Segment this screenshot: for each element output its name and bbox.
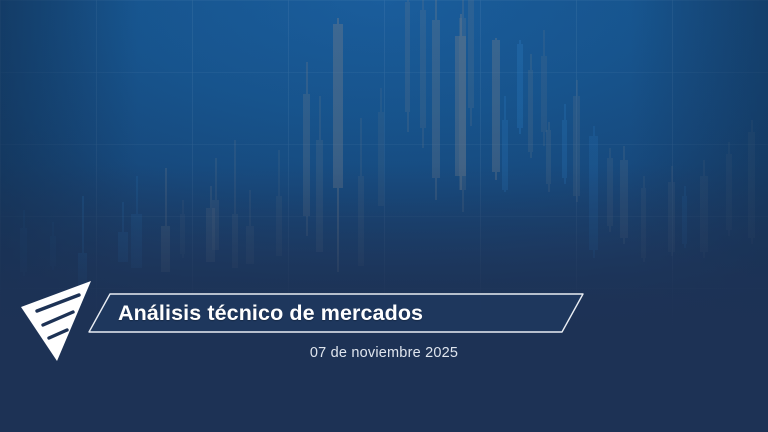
background-bottom-fade <box>0 0 768 432</box>
slide-root: Análisis técnico de mercados 07 de novie… <box>0 0 768 432</box>
slide-date: 07 de noviembre 2025 <box>0 345 768 361</box>
slide-date-text: 07 de noviembre 2025 <box>310 345 458 361</box>
bottom-band <box>0 376 768 432</box>
page-title: Análisis técnico de mercados <box>118 293 423 333</box>
title-plate: Análisis técnico de mercados <box>88 293 584 333</box>
